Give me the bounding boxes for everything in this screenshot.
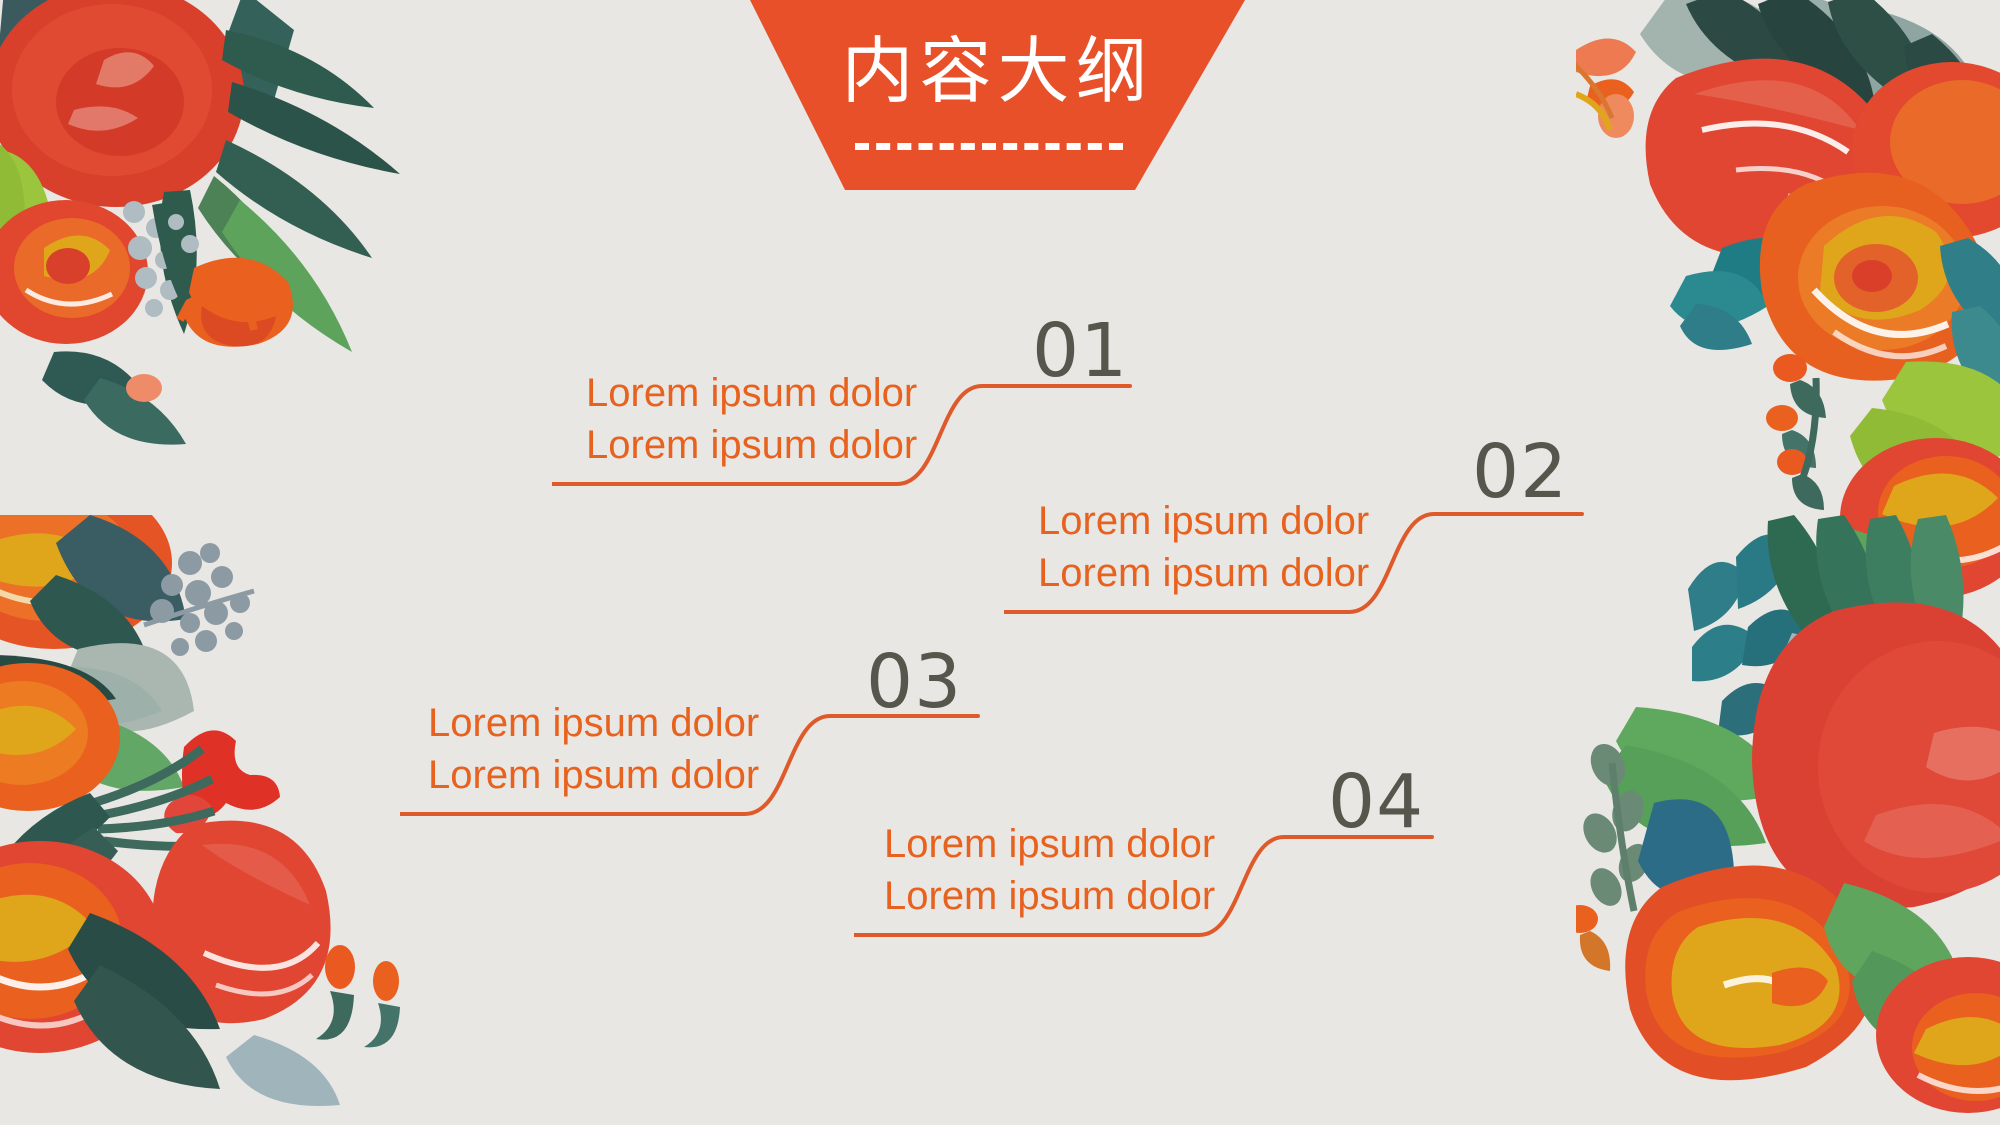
outline-item-03-number: 03 xyxy=(866,645,962,719)
outline-item-03-line-1: Lorem ipsum dolor xyxy=(428,697,748,749)
slide-canvas: 内容大纲 01 Lorem ipsum dolor Lorem ipsum do… xyxy=(0,0,2000,1125)
outline-item-03-text: Lorem ipsum dolor Lorem ipsum dolor xyxy=(428,697,748,801)
outline-item-02-text: Lorem ipsum dolor Lorem ipsum dolor xyxy=(1038,495,1358,599)
floral-decoration-top-right xyxy=(1576,0,2000,750)
outline-item-03-line-2: Lorem ipsum dolor xyxy=(428,749,748,801)
outline-item-04-number: 04 xyxy=(1328,765,1424,839)
floral-decoration-top-left xyxy=(0,0,424,890)
outline-item-02-number: 02 xyxy=(1472,435,1568,509)
floral-decoration-bottom-right xyxy=(1576,515,2000,1125)
outline-item-01-line-2: Lorem ipsum dolor xyxy=(586,419,906,471)
floral-decoration-bottom-left xyxy=(0,515,424,1125)
title-divider xyxy=(855,143,1123,150)
outline-item-02-line-1: Lorem ipsum dolor xyxy=(1038,495,1358,547)
outline-item-04-line-1: Lorem ipsum dolor xyxy=(884,818,1204,870)
outline-item-01-number: 01 xyxy=(1032,314,1128,388)
outline-item-04-line-2: Lorem ipsum dolor xyxy=(884,870,1204,922)
outline-item-02-line-2: Lorem ipsum dolor xyxy=(1038,547,1358,599)
outline-item-04-text: Lorem ipsum dolor Lorem ipsum dolor xyxy=(884,818,1204,922)
outline-item-01-text: Lorem ipsum dolor Lorem ipsum dolor xyxy=(586,367,906,471)
outline-item-01-line-1: Lorem ipsum dolor xyxy=(586,367,906,419)
page-title: 内容大纲 xyxy=(750,28,1245,114)
